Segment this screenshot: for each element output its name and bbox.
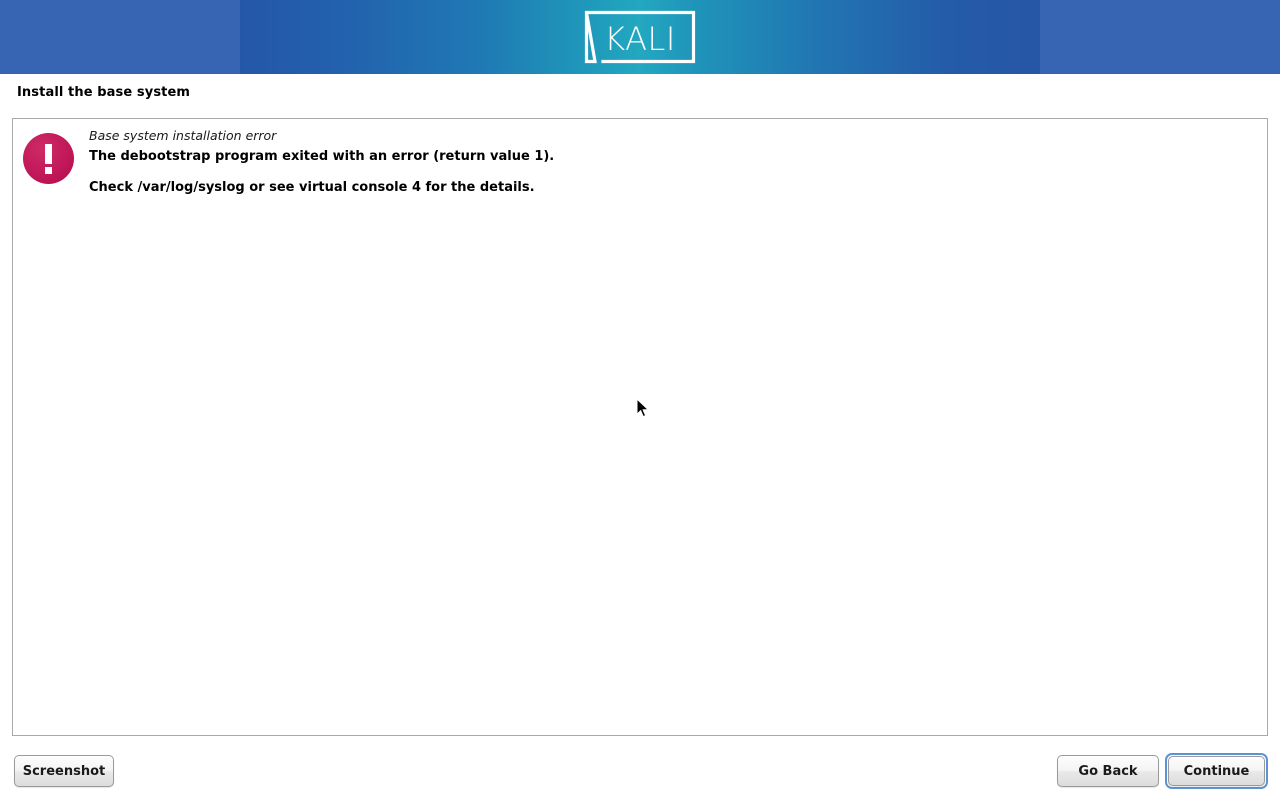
page-title: Install the base system (17, 85, 190, 100)
content-panel: Base system installation error The deboo… (12, 118, 1268, 736)
kali-banner: KALI (0, 0, 1280, 74)
error-exclamation-icon (23, 133, 74, 184)
screenshot-button[interactable]: Screenshot (14, 755, 114, 787)
error-text-group: Base system installation error The deboo… (89, 125, 1239, 197)
error-heading: Base system installation error (89, 125, 1239, 145)
kali-logo: KALI (583, 9, 697, 65)
exclamation-dot (45, 167, 52, 174)
exclamation-bar (45, 144, 52, 164)
go-back-button[interactable]: Go Back (1057, 755, 1159, 787)
installer-screen: KALI Install the base system Base system… (0, 0, 1280, 800)
error-message: The debootstrap program exited with an e… (89, 145, 1239, 166)
continue-button[interactable]: Continue (1168, 756, 1265, 786)
error-detail: Check /var/log/syslog or see virtual con… (89, 166, 1239, 197)
kali-logo-text: KALI (604, 20, 676, 58)
